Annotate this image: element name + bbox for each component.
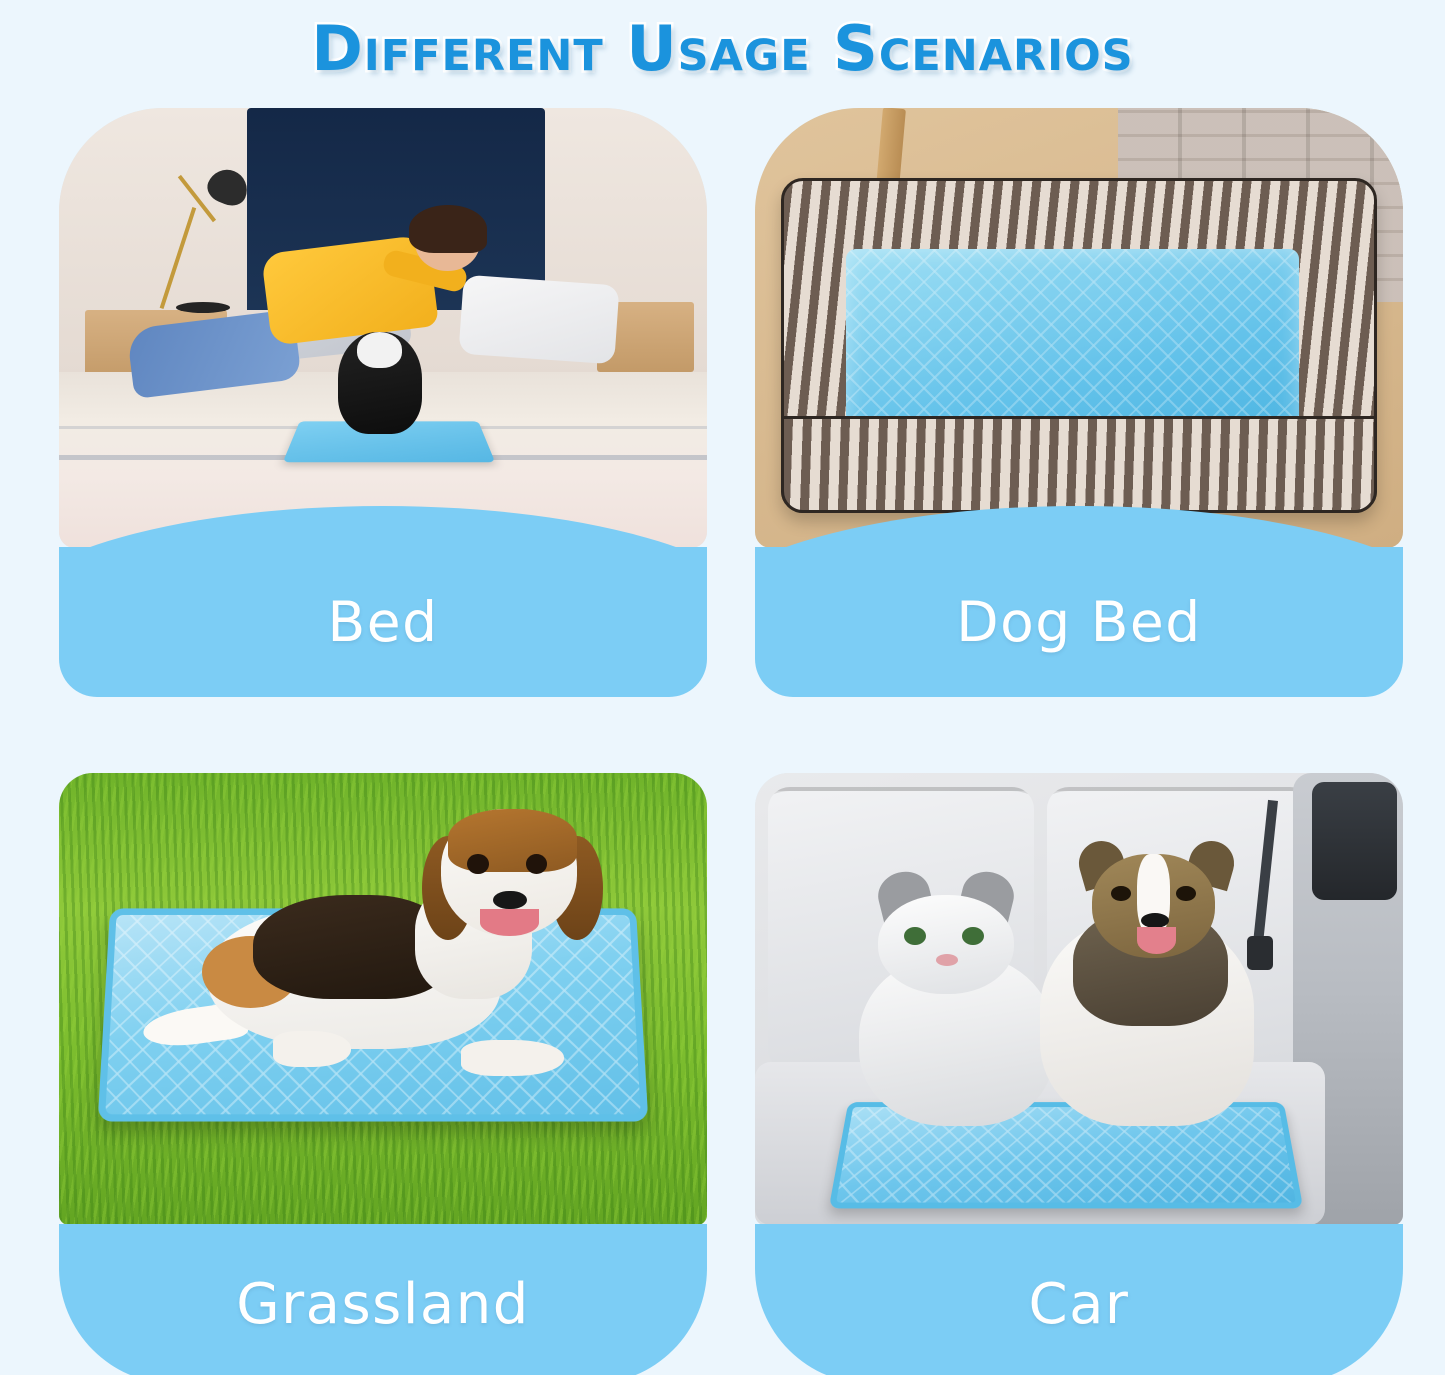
scenario-photo-bed <box>59 108 707 548</box>
scenario-caption-dog-bed: Dog Bed <box>755 547 1403 697</box>
grassland-scene-illustration <box>59 773 707 1225</box>
scenario-photo-car <box>755 773 1403 1225</box>
scenario-label-dog-bed: Dog Bed <box>956 590 1201 654</box>
scenario-card-bed[interactable]: Bed <box>59 108 707 708</box>
scenario-caption-grassland: Grassland <box>59 1224 707 1375</box>
scenario-card-dog-bed[interactable]: Dog Bed <box>755 108 1403 708</box>
page-header: Different Usage Scenarios <box>0 0 1445 98</box>
scenario-grid: Bed Dog Bed <box>0 98 1445 1375</box>
scenario-caption-bed: Bed <box>59 547 707 697</box>
scenario-label-bed: Bed <box>328 590 439 654</box>
scenario-card-grassland[interactable]: Grassland <box>59 773 707 1375</box>
dog-bed-scene-illustration <box>755 108 1403 548</box>
car-scene-illustration <box>755 773 1403 1225</box>
scenario-photo-dog-bed <box>755 108 1403 548</box>
bedroom-scene-illustration <box>59 108 707 548</box>
cooling-mat-product <box>829 1102 1303 1208</box>
scenario-label-car: Car <box>1029 1272 1130 1337</box>
scenario-photo-grassland <box>59 773 707 1225</box>
scenario-caption-car: Car <box>755 1224 1403 1375</box>
scenario-card-car[interactable]: Car <box>755 773 1403 1375</box>
scenario-label-grassland: Grassland <box>236 1272 530 1337</box>
page-title: Different Usage Scenarios <box>311 18 1133 80</box>
